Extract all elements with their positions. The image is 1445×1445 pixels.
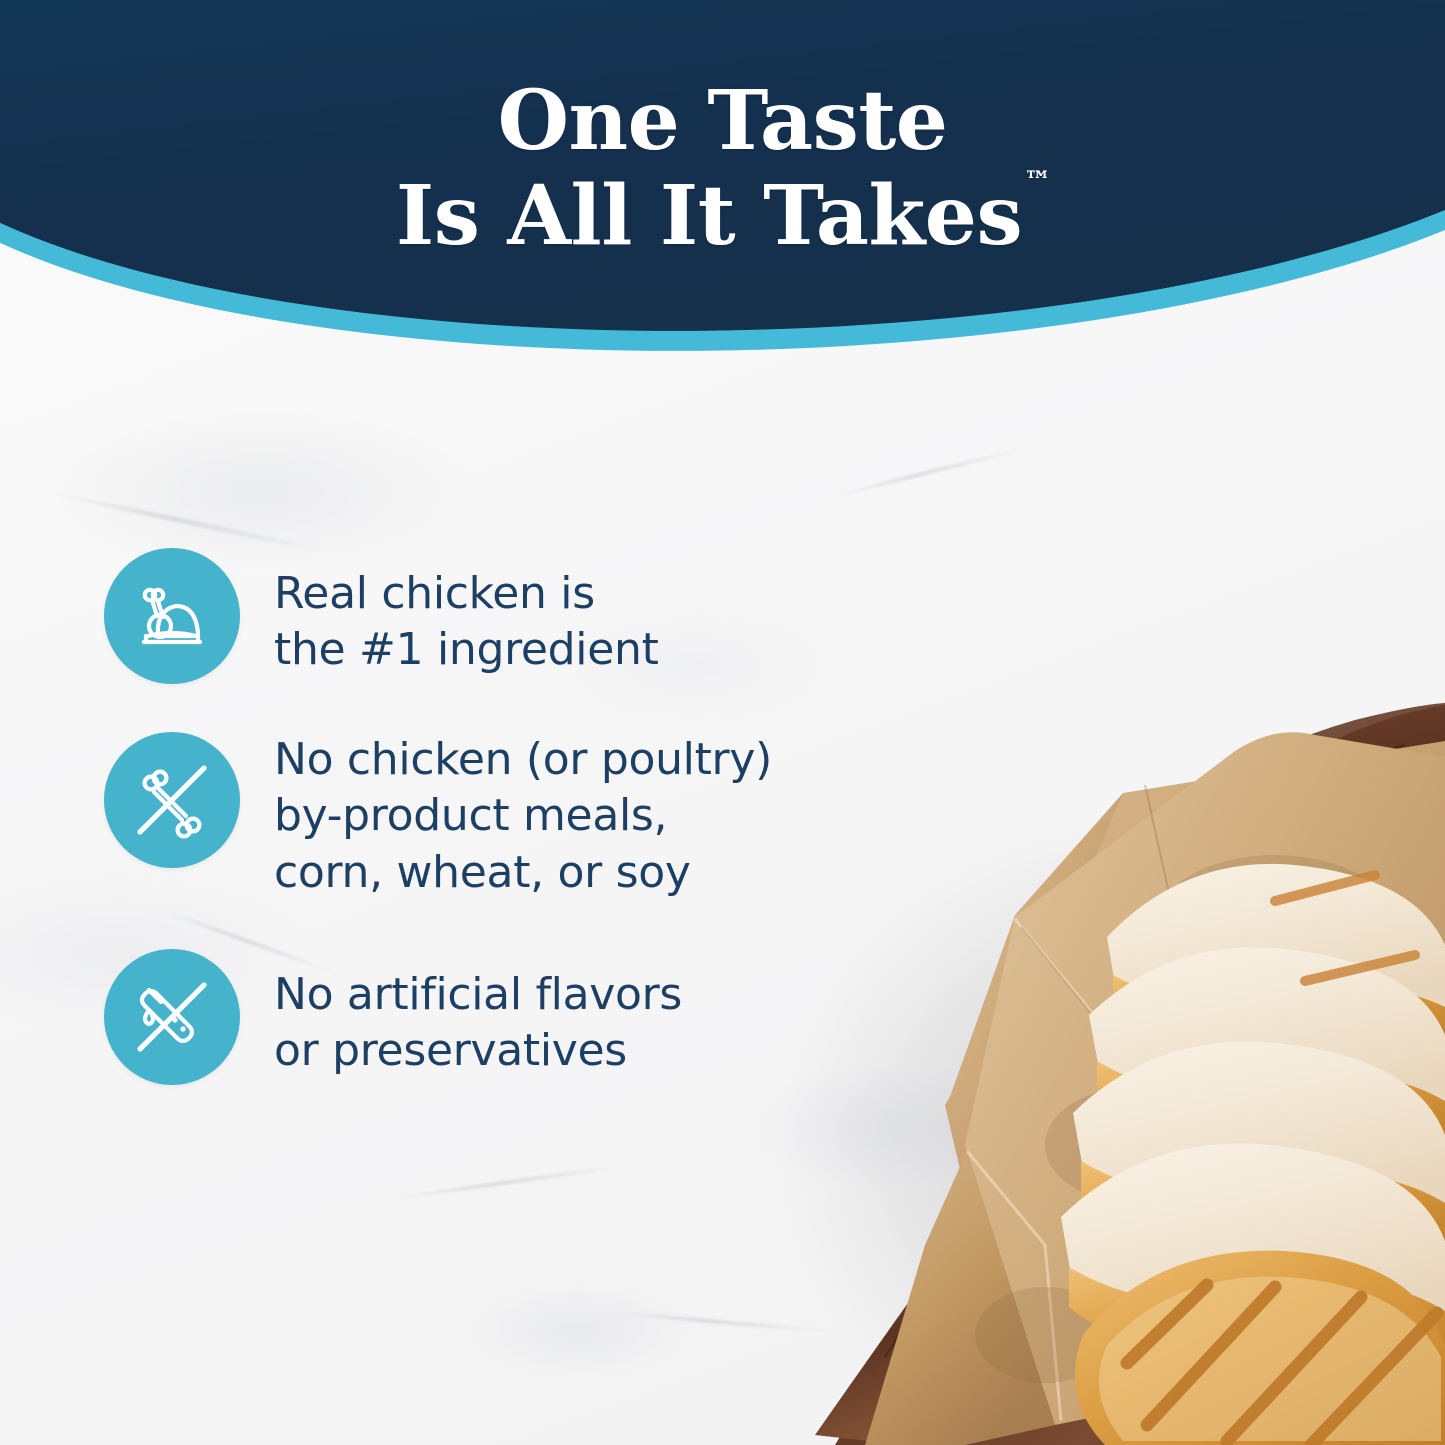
roast-chicken-platter-icon <box>104 548 240 684</box>
headline-line-1: One Taste <box>0 74 1445 169</box>
roast-chicken-glyph <box>132 576 212 656</box>
page-title: One Taste Is All It Takes™ <box>0 74 1445 264</box>
list-item-label: No artificial flavors or preservatives <box>274 949 682 1080</box>
benefits-list: Real chicken is the #1 ingredient <box>104 548 864 1085</box>
promo-banner: One Taste Is All It Takes™ <box>0 0 1445 1445</box>
headline-line-2-wrap: Is All It Takes™ <box>396 169 1049 264</box>
no-bone-icon <box>104 732 240 868</box>
list-item: No chicken (or poultry) by-product meals… <box>104 732 864 901</box>
trademark-symbol: ™ <box>1024 166 1051 197</box>
no-bone-glyph <box>131 759 213 841</box>
chicken-slices <box>1061 864 1445 1445</box>
no-test-tube-glyph <box>131 976 213 1058</box>
list-item-label: No chicken (or poultry) by-product meals… <box>274 732 772 901</box>
list-item: Real chicken is the #1 ingredient <box>104 548 864 684</box>
headline-line-2: Is All It Takes <box>396 168 1022 264</box>
list-item-label: Real chicken is the #1 ingredient <box>274 548 659 679</box>
no-test-tube-icon <box>104 949 240 1085</box>
list-item: No artificial flavors or preservatives <box>104 949 864 1085</box>
